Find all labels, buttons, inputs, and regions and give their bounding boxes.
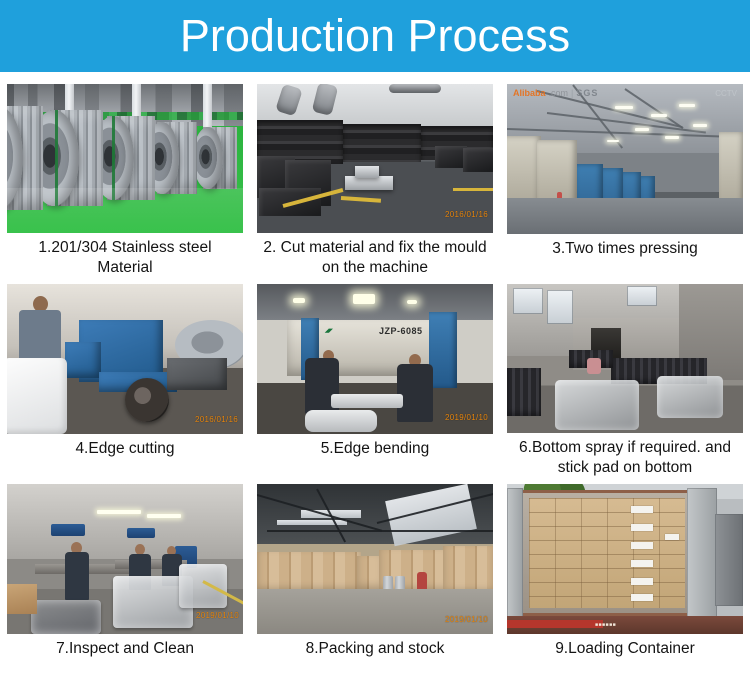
inspect-clean-photo: 2019/01/10	[7, 484, 243, 634]
step-caption-8: 8.Packing and stock	[259, 639, 491, 659]
sgs-cert-text: SGS	[576, 88, 598, 98]
strip-light-2	[147, 514, 181, 518]
step-cell-4: 2016/01/16 4.Edge cutting	[0, 278, 250, 478]
bottom-spray-photo	[507, 284, 743, 433]
alibaba-sgs-watermark: Alibaba .com | SGS	[513, 88, 598, 98]
carton-label-7	[665, 534, 679, 540]
step-caption-1: 1.201/304 Stainless steel Material	[9, 238, 241, 278]
machine-model-label: JZP-6085	[379, 326, 423, 336]
stainless-sink-part	[7, 358, 67, 434]
mould-cart-base	[345, 176, 393, 190]
window-2	[547, 290, 573, 324]
container-door-right	[687, 488, 717, 618]
ceiling-light-main	[353, 294, 375, 304]
extractor-hood-1	[51, 524, 85, 536]
step-cell-2: 2016/01/16 2. Cut material and fix the m…	[250, 78, 500, 278]
spray-worker	[587, 358, 601, 374]
adjacent-truck-body	[715, 514, 743, 606]
mould-rack-2	[343, 124, 421, 162]
ceiling-light-1	[615, 106, 633, 109]
worker-1-body	[65, 552, 89, 600]
ceiling-light-7	[607, 140, 619, 142]
ceiling-light-5	[665, 136, 679, 139]
step-caption-2: 2. Cut material and fix the mould on the…	[259, 238, 491, 278]
drive-wheel	[125, 378, 169, 422]
carton-label-2	[631, 524, 653, 531]
step-cell-5: JZP-6085 ◢◤ 2019/01/10 5.Edge bending	[250, 278, 500, 478]
steps-row-1: 1.201/304 Stainless steel Material	[0, 78, 750, 278]
alibaba-brand-text: Alibaba	[513, 88, 546, 98]
machine-brand-mark: ◢◤	[325, 328, 333, 334]
warehouse-floor	[257, 589, 493, 634]
photo-timestamp: 2019/01/10	[445, 413, 488, 422]
wrapped-pallet-2	[657, 376, 723, 418]
window-1	[513, 288, 543, 314]
step-caption-5: 5.Edge bending	[259, 439, 491, 459]
window-3	[627, 286, 657, 306]
step-caption-6: 6.Bottom spray if required. and stick pa…	[509, 438, 741, 478]
coil-face-5	[193, 127, 223, 189]
step-caption-4: 4.Edge cutting	[9, 439, 241, 459]
extractor-hood-2	[127, 528, 155, 538]
photo-timestamp: 2019/01/10	[445, 615, 488, 624]
duct-3	[389, 84, 441, 93]
step-cell-8: 2019/01/10 8.Packing and stock	[250, 478, 500, 673]
machine-brand-logo: ◢◤	[325, 328, 333, 334]
carton-label-5	[631, 578, 653, 585]
wrapped-pallet-1	[555, 380, 639, 430]
production-steps-grid: 1.201/304 Stainless steel Material	[0, 78, 750, 673]
mould-block-5	[463, 148, 493, 172]
step-cell-1: 1.201/304 Stainless steel Material	[0, 78, 250, 278]
grey-part-pallet	[31, 600, 101, 634]
hall-floor	[507, 198, 743, 234]
container-door-left	[507, 488, 523, 618]
carton-box	[7, 584, 37, 614]
carton-label-3	[631, 542, 653, 549]
watermark-separator: |	[571, 88, 573, 98]
edge-bending-photo: JZP-6085 ◢◤ 2019/01/10	[257, 284, 493, 434]
yellow-floor-line-c	[453, 188, 493, 191]
strip-light-1	[97, 510, 141, 514]
carton-label-1	[631, 506, 653, 513]
edge-cutting-photo: 2016/01/16	[7, 284, 243, 434]
pressing-hall-photo: Alibaba .com | SGS CCTV	[507, 84, 743, 234]
step-cell-6: 6.Bottom spray if required. and stick pa…	[500, 278, 750, 478]
step-caption-3: 3.Two times pressing	[509, 239, 741, 259]
stacked-sink-part	[305, 410, 377, 432]
step-cell-9: ■■■■■■ 9.Loading Container	[500, 478, 750, 673]
carton-label-4	[631, 560, 653, 567]
worker-2-body	[397, 364, 433, 422]
photo-timestamp: 2016/01/16	[195, 415, 238, 424]
ceiling-light-6	[693, 124, 707, 127]
carton-stack-4	[443, 546, 493, 594]
mould-cart-top	[355, 166, 379, 178]
red-stripe	[507, 620, 603, 628]
step-cell-3: Alibaba .com | SGS CCTV 3.Two times pres…	[500, 78, 750, 278]
pillar-3	[203, 84, 212, 127]
floor-sheen	[7, 188, 243, 233]
step-caption-7: 7.Inspect and Clean	[9, 639, 241, 659]
ceiling-light-2	[651, 114, 667, 117]
mould-warehouse-photo: 2016/01/16	[257, 84, 493, 233]
carton-label-6	[631, 594, 653, 601]
photo-timestamp: 2019/01/10	[196, 611, 239, 620]
steel-coils-photo	[7, 84, 243, 233]
side-trolley	[167, 358, 227, 390]
steps-row-2: 2016/01/16 4.Edge cutting JZP-6085 ◢◤	[0, 278, 750, 478]
operator-body	[19, 310, 61, 360]
wrapped-pallet-2	[179, 564, 227, 608]
ceiling-light-left	[293, 298, 305, 303]
ceiling-light-4	[635, 128, 649, 131]
ceiling-light-3	[679, 104, 695, 107]
carton-stack-1	[257, 552, 361, 592]
photo-timestamp: 2016/01/16	[445, 210, 488, 219]
steps-row-3: 2019/01/10 7.Inspect and Clean	[0, 478, 750, 673]
ceiling-light-right	[407, 300, 417, 304]
roof-truss-3	[267, 530, 493, 532]
page-header-banner: Production Process	[0, 0, 750, 72]
press-brake-column-right	[429, 312, 457, 388]
container-number-plate: ■■■■■■	[595, 622, 616, 628]
step-caption-9: 9.Loading Container	[509, 639, 741, 659]
step-cell-7: 2019/01/10 7.Inspect and Clean	[0, 478, 250, 673]
production-process-page: Production Process	[0, 0, 750, 685]
cutting-machine-side	[65, 342, 101, 378]
yellow-floor-line-b	[341, 196, 381, 203]
loading-container-photo: ■■■■■■	[507, 484, 743, 634]
alibaba-domain-text: .com	[549, 88, 569, 98]
loaded-cartons	[529, 498, 685, 608]
corner-watermark-text: CCTV	[715, 89, 737, 98]
packing-stock-photo: 2019/01/10	[257, 484, 493, 634]
sheet-metal-part	[331, 394, 403, 408]
page-title: Production Process	[180, 12, 570, 60]
inspection-wall	[7, 484, 243, 559]
rack-left	[507, 368, 541, 416]
